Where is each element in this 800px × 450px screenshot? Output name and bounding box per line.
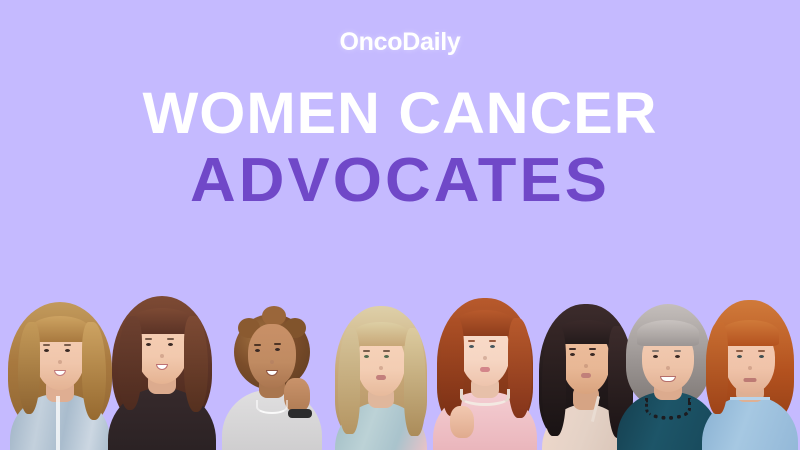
- portrait-2: [104, 285, 220, 450]
- face: [248, 324, 296, 388]
- hair-strand-left: [706, 322, 728, 414]
- eye-left: [364, 355, 369, 358]
- portrait-1: [2, 290, 118, 450]
- hair-strand-right: [508, 318, 532, 418]
- nose: [58, 360, 62, 364]
- brand-logo: OncoDaily: [0, 30, 800, 55]
- eyebrow-left: [468, 340, 475, 342]
- eye-left: [469, 345, 474, 348]
- eyebrow-left: [145, 338, 152, 340]
- eyebrow-left: [652, 350, 659, 352]
- eye-right: [275, 348, 280, 351]
- portrait-4: [326, 294, 436, 450]
- hair-front: [721, 320, 779, 346]
- eye-left: [570, 353, 575, 356]
- hair-front: [558, 320, 614, 344]
- shirt-placket: [56, 396, 60, 450]
- eyebrow-left: [569, 348, 576, 350]
- eyebrow-right: [589, 348, 596, 350]
- beaded-necklace: [645, 398, 691, 420]
- hair-strand-left: [542, 326, 566, 436]
- nose: [748, 366, 752, 370]
- hair-strand-left: [338, 328, 360, 434]
- eye-left: [255, 349, 260, 352]
- eyebrow-left: [254, 344, 261, 346]
- necklace: [256, 400, 288, 414]
- eyebrow-left: [736, 350, 743, 352]
- promo-banner: OncoDaily WOMEN CANCER ADVOCATES: [0, 0, 800, 450]
- shirt-collar: [730, 397, 770, 416]
- eye-right: [759, 355, 764, 358]
- hair-front: [353, 322, 409, 346]
- page-title: WOMEN CANCER ADVOCATES: [0, 86, 800, 212]
- eye-left: [737, 355, 742, 358]
- pearl-necklace: [460, 389, 510, 406]
- eye-right: [384, 355, 389, 358]
- eye-right: [590, 353, 595, 356]
- hair-front: [637, 320, 699, 346]
- hair-front: [31, 316, 89, 342]
- nose: [270, 360, 274, 364]
- hair-strand-left: [18, 322, 40, 414]
- hair-strand-left: [118, 316, 142, 410]
- eye-right: [168, 343, 173, 346]
- eyebrow-right: [383, 350, 390, 352]
- nose: [666, 366, 670, 370]
- hair-front: [456, 310, 514, 336]
- wristband: [288, 409, 312, 418]
- eyebrow-right: [64, 344, 71, 346]
- eye-left: [146, 343, 151, 346]
- hand-near-chin: [450, 406, 474, 438]
- portrait-row: [0, 275, 800, 450]
- eyebrow-right: [674, 350, 681, 352]
- headline-line-1: WOMEN CANCER: [0, 86, 800, 143]
- mouth: [744, 378, 757, 382]
- portrait-3: [218, 288, 326, 450]
- nose: [379, 366, 383, 370]
- headline-line-2: ADVOCATES: [0, 151, 800, 212]
- hair-curl-2: [262, 306, 286, 326]
- portrait-5: [428, 286, 542, 450]
- hair-strand-left: [440, 318, 464, 416]
- mouth: [581, 373, 591, 378]
- eyebrow-right: [167, 338, 174, 340]
- nose: [584, 364, 588, 368]
- eye-right: [65, 349, 70, 352]
- eye-right: [675, 355, 680, 358]
- nose: [160, 354, 164, 358]
- mouth: [480, 367, 490, 372]
- eyebrow-left: [363, 350, 370, 352]
- eye-right: [490, 345, 495, 348]
- eyebrow-right: [489, 340, 496, 342]
- eye-left: [653, 355, 658, 358]
- portrait-8: [700, 292, 800, 450]
- mouth: [376, 375, 386, 380]
- eyebrow-right: [758, 350, 765, 352]
- eyebrow-left: [43, 344, 50, 346]
- eyebrow-right: [274, 343, 281, 345]
- nose: [483, 356, 487, 360]
- eye-left: [44, 349, 49, 352]
